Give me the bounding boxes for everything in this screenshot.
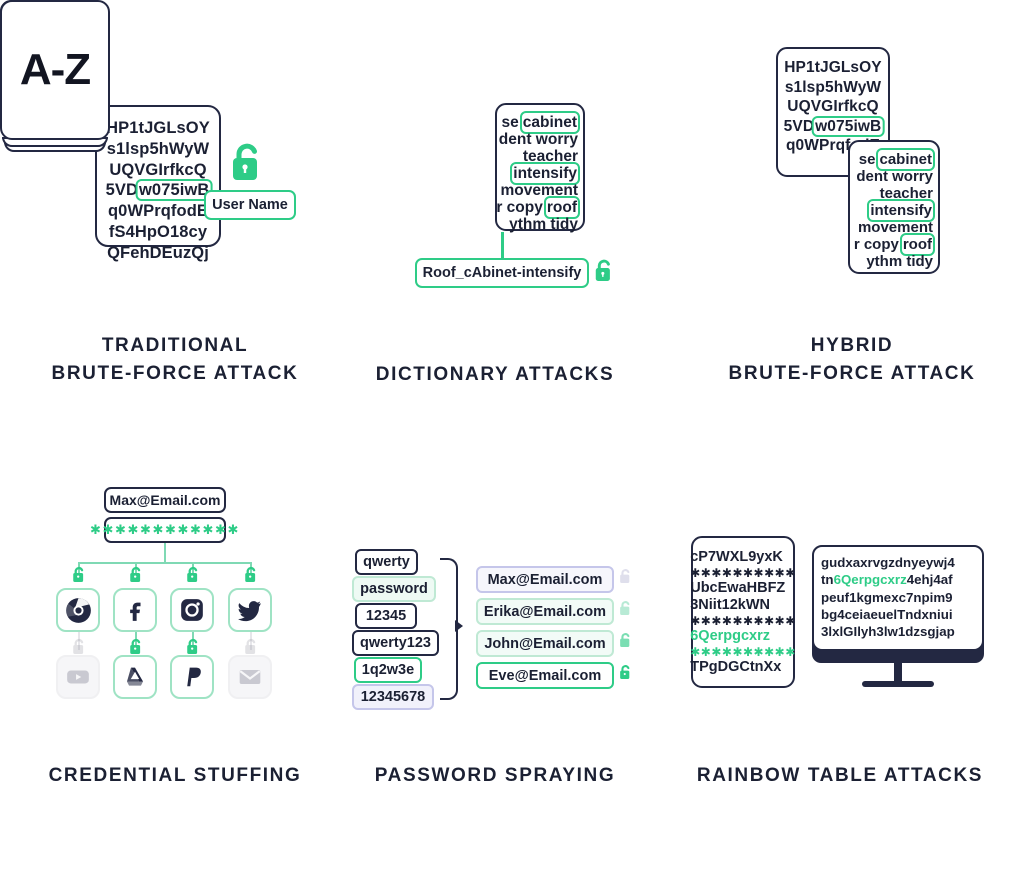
password-guess-card: HP1tJGLsOY s1lsp5hWyW UQVGIrfkcQ 5VDw075… xyxy=(95,105,221,247)
unlocked-padlock-icon xyxy=(619,568,632,585)
table-row-mask: ✱✱✱✱✱✱✱✱✱✱ xyxy=(690,645,796,659)
word-row: intensify xyxy=(854,202,933,219)
word-row: movement xyxy=(854,219,933,236)
monitor-screen: gudxaxrvgzdnyeywj4 tn6Qerpgcxrz4ehj4af p… xyxy=(812,545,984,651)
word-row: intensify xyxy=(496,165,578,182)
brace-arrow xyxy=(455,620,463,632)
paypal-icon[interactable] xyxy=(170,655,214,699)
locked-padlock-icon-disabled xyxy=(72,638,86,656)
email-icon[interactable] xyxy=(228,655,272,699)
table-row: 3Niit12kWN xyxy=(690,597,796,614)
word-row: secabinet xyxy=(496,114,578,131)
pw-line: s1lsp5hWyW xyxy=(106,139,211,160)
hybrid-word-list: secabinet dent worry teacher intensify m… xyxy=(854,151,933,270)
unlocked-padlock-icon xyxy=(619,632,632,649)
facebook-icon[interactable] xyxy=(113,588,157,632)
hybrid-az-card-stack: A-Z xyxy=(0,0,110,140)
caption-dictionary: DICTIONARY ATTACKS xyxy=(355,361,635,389)
hybrid-word-card: secabinet dent worry teacher intensify m… xyxy=(848,140,940,274)
pw-line: HP1tJGLsOY xyxy=(784,58,883,78)
rainbow-table-rows: cP7WXL9yxK ✱✱✱✱✱✱✱✱✱✱ UbcEwaHBFZ 3Niit12… xyxy=(690,549,796,676)
table-row: UbcEwaHBFZ xyxy=(690,580,796,597)
unlocked-padlock-icon xyxy=(244,566,258,584)
email-field[interactable]: Max@Email.com xyxy=(104,487,226,513)
word-row: dent worry xyxy=(496,131,578,148)
caption-password-spraying: PASSWORD SPRAYING xyxy=(355,762,635,790)
password-chip: qwerty xyxy=(355,549,418,575)
monitor-foot xyxy=(862,681,934,687)
pw-line-highlighted: 5VDw075iwB xyxy=(784,117,883,137)
unlocked-padlock-icon xyxy=(129,566,143,584)
hash-line: peuf1kgmexc7npim9 xyxy=(821,589,955,606)
hash-line: bg4ceiaeuelTndxniui xyxy=(821,606,955,623)
caption-rainbow-table: RAINBOW TABLE ATTACKS xyxy=(690,762,990,790)
table-row: TPgDGCtnXx xyxy=(690,659,796,676)
pw-line-highlighted: 5VDw075iwB xyxy=(106,180,211,201)
unlocked-padlock-icon xyxy=(230,142,264,184)
unlocked-padlock-icon xyxy=(619,664,632,681)
tree-trunk xyxy=(164,543,166,563)
dictionary-word-card: secabinet dent worry teacher intensify m… xyxy=(495,103,585,231)
pw-line: UQVGIrfkcQ xyxy=(106,160,211,181)
table-row: cP7WXL9yxK xyxy=(690,549,796,566)
dictionary-word-list: secabinet dent worry teacher intensify m… xyxy=(496,114,578,233)
account-chip: John@Email.com xyxy=(476,630,614,657)
locked-padlock-icon-disabled xyxy=(244,638,258,656)
table-row-mask: ✱✱✱✱✱✱✱✱✱✱ xyxy=(690,614,796,628)
table-row-mask: ✱✱✱✱✱✱✱✱✱✱ xyxy=(690,566,796,580)
google-drive-icon[interactable] xyxy=(113,655,157,699)
az-label: A-Z xyxy=(20,45,90,95)
unlocked-padlock-icon xyxy=(186,638,200,656)
pw-prefix: 5VD xyxy=(106,181,138,199)
password-chip: 1q2w3e xyxy=(354,657,422,683)
pw-line: fS4HpO18cy xyxy=(106,222,211,243)
instagram-icon[interactable] xyxy=(170,588,214,632)
hash-line-match: tn6Qerpgcxrz4ehj4af xyxy=(821,571,955,588)
account-chip: Max@Email.com xyxy=(476,566,614,593)
hash-line: 3lxlGIlyh3lw1dzsgjap xyxy=(821,623,955,640)
infographic-root: HP1tJGLsOY s1lsp5hWyW UQVGIrfkcQ 5VDw075… xyxy=(0,0,1024,873)
youtube-icon[interactable] xyxy=(56,655,100,699)
pw-line: QFehDEuzQj xyxy=(106,243,211,264)
unlocked-padlock-icon xyxy=(72,566,86,584)
word-row: teacher xyxy=(854,185,933,202)
unlocked-padlock-icon xyxy=(186,566,200,584)
rainbow-table-card: cP7WXL9yxK ✱✱✱✱✱✱✱✱✱✱ UbcEwaHBFZ 3Niit12… xyxy=(691,536,795,688)
hash-line: gudxaxrvgzdnyeywj4 xyxy=(821,554,955,571)
word-row: ythm tidy xyxy=(854,253,933,270)
password-field[interactable]: ✱✱✱✱✱✱✱✱✱✱✱✱ xyxy=(104,517,226,543)
caption-credential-stuffing: CREDENTIAL STUFFING xyxy=(35,762,315,790)
word-row: secabinet xyxy=(854,151,933,168)
username-tag: User Name xyxy=(204,190,296,220)
password-chip: 12345678 xyxy=(352,684,434,710)
password-chip: 12345 xyxy=(355,603,417,629)
pw-line: s1lsp5hWyW xyxy=(784,78,883,98)
pw-line: q0WPrqfodE xyxy=(106,201,211,222)
result-connector-line xyxy=(501,232,504,259)
monitor: gudxaxrvgzdnyeywj4 tn6Qerpgcxrz4ehj4af p… xyxy=(812,545,984,675)
word-row: dent worry xyxy=(854,168,933,185)
account-chip: Erika@Email.com xyxy=(476,598,614,625)
word-row: r copyroof xyxy=(496,199,578,216)
unlocked-padlock-icon xyxy=(594,258,614,284)
word-row: ythm tidy xyxy=(496,216,578,233)
account-chip: Eve@Email.com xyxy=(476,662,614,689)
word-row: teacher xyxy=(496,148,578,165)
word-row: movement xyxy=(496,182,578,199)
az-card: A-Z xyxy=(0,0,110,140)
panel-hybrid-brute-force: HP1tJGLsOY s1lsp5hWyW UQVGIrfkcQ 5VDw075… xyxy=(0,0,110,140)
pw-highlight: w075iwB xyxy=(138,181,210,199)
table-row-match: 6Qerpgcxrz xyxy=(690,628,796,645)
dictionary-result-tag: Roof_cAbinet-intensify xyxy=(415,258,589,288)
password-chip: password xyxy=(352,576,436,602)
caption-hybrid: HYBRID BRUTE-FORCE ATTACK xyxy=(712,332,992,387)
monitor-text: gudxaxrvgzdnyeywj4 tn6Qerpgcxrz4ehj4af p… xyxy=(821,554,955,640)
pw-line: UQVGIrfkcQ xyxy=(784,97,883,117)
twitter-icon[interactable] xyxy=(228,588,272,632)
unlocked-padlock-icon xyxy=(619,600,632,617)
tree-branch-bar xyxy=(78,562,252,564)
word-row: r copyroof xyxy=(854,236,933,253)
chrome-icon[interactable] xyxy=(56,588,100,632)
password-chip: qwerty123 xyxy=(352,630,439,656)
pw-line: HP1tJGLsOY xyxy=(106,118,211,139)
caption-traditional: TRADITIONAL BRUTE-FORCE ATTACK xyxy=(35,332,315,387)
unlocked-padlock-icon xyxy=(129,638,143,656)
password-guess-lines: HP1tJGLsOY s1lsp5hWyW UQVGIrfkcQ 5VDw075… xyxy=(106,118,211,263)
